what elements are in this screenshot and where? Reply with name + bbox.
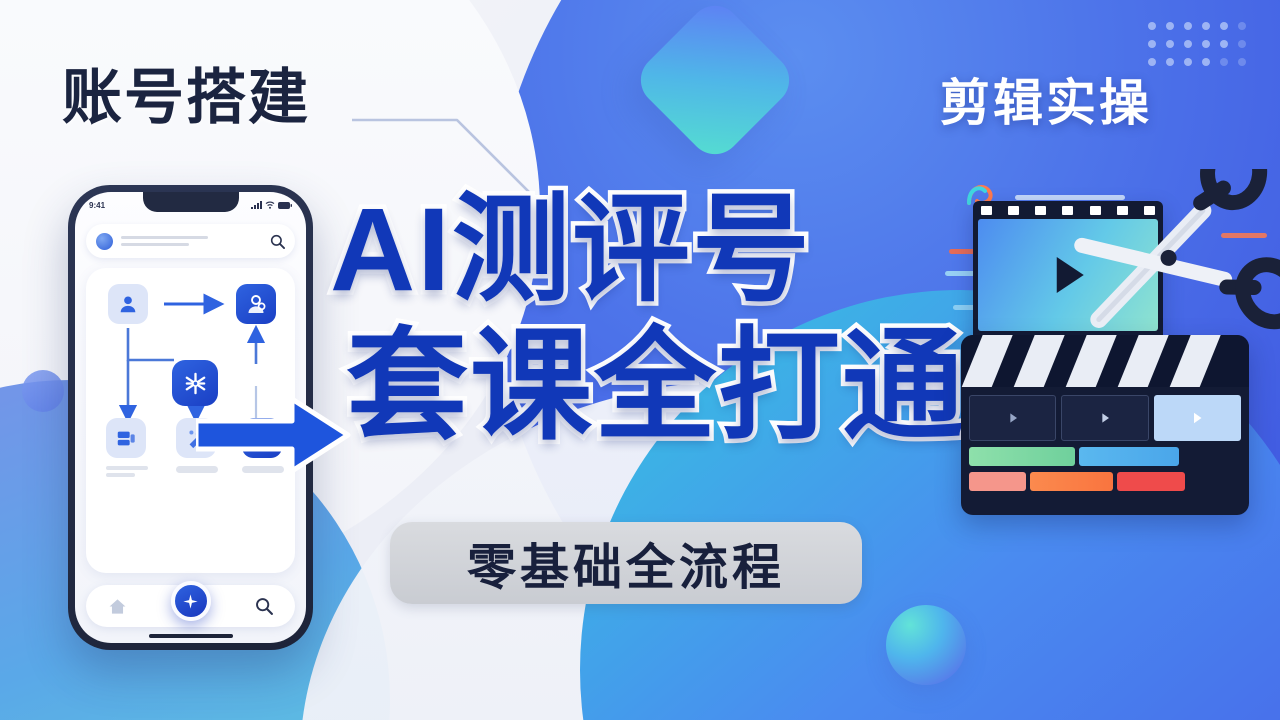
play-icon [1097,410,1113,426]
flow-caption-document [106,466,148,477]
timeline-clips [969,395,1241,441]
decor-dot-grid [1148,22,1256,76]
scissors-icon [1065,169,1280,349]
search-icon[interactable] [255,597,273,615]
video-timeline [961,387,1249,499]
sparkle-icon [182,593,199,610]
decor-small-blue-dot [22,370,64,412]
big-right-arrow [196,392,356,478]
flow-node-document[interactable] [106,418,146,458]
timeline-clip[interactable] [969,395,1056,441]
timeline-clip-active[interactable] [1154,395,1241,441]
status-indicators [251,201,292,209]
search-placeholder-lines [121,236,262,246]
flow-node-target-user[interactable] [236,284,276,324]
badge-right-text: 剪辑实操 [940,78,1152,128]
document-icon [115,427,137,449]
phone-home-indicator [149,634,233,638]
play-icon [1005,410,1021,426]
decor-gradient-sphere [886,605,966,685]
user-target-icon [244,292,268,316]
poster-canvas: 账号搭建 剪辑实操 9:41 [0,0,1280,720]
wifi-icon [265,201,275,209]
search-icon[interactable] [270,234,285,249]
status-time: 9:41 [89,201,105,210]
phone-search-bar[interactable] [86,224,295,258]
subtitle-text: 零基础全流程 [467,528,785,599]
timeline-clip[interactable] [1061,395,1148,441]
badge-left-text: 账号搭建 [62,68,310,128]
play-icon [1188,409,1206,427]
timeline-track-a[interactable] [969,447,1241,466]
phone-create-button[interactable] [171,581,211,621]
clapperboard [961,335,1249,515]
globe-icon [96,233,113,250]
timeline-track-b[interactable] [969,472,1241,491]
phone-statusbar: 9:41 [75,196,306,214]
video-editing-illustration [955,175,1280,520]
battery-icon [278,202,292,209]
signal-icon [251,201,262,209]
user-icon [117,293,139,315]
flow-node-user[interactable] [108,284,148,324]
subtitle-badge: 零基础全流程 [390,522,862,604]
home-icon[interactable] [108,597,127,616]
